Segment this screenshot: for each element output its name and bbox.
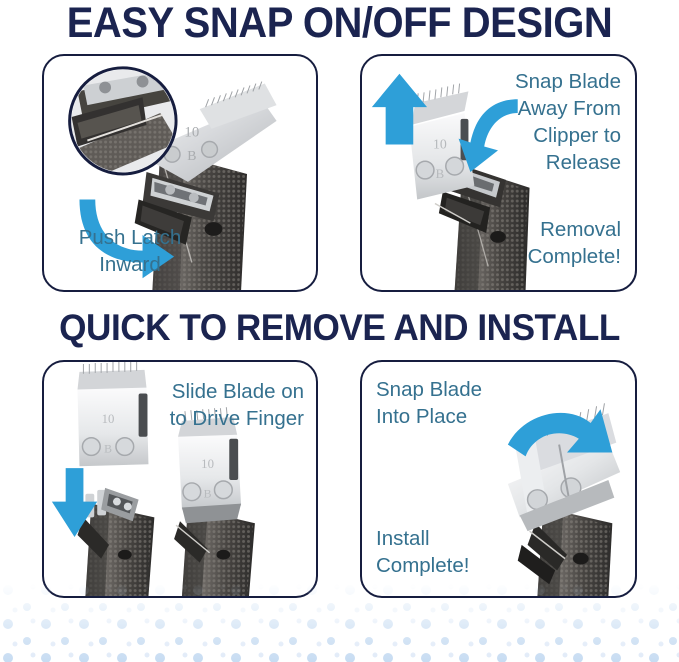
page-title-secondary: QUICK TO REMOVE AND INSTALL [17,309,662,346]
svg-text:10: 10 [184,125,199,141]
page-title-primary: EASY SNAP ON/OFF DESIGN [24,2,655,45]
panel-push-latch: 10 B [42,54,318,292]
svg-text:B: B [104,441,112,455]
svg-text:B: B [187,148,196,163]
panel-snap-away: 10 B Snap Blade Away From Clipper to Rel… [360,54,637,292]
svg-text:B: B [436,167,445,181]
panel-slide-blade: 10 B [42,360,318,598]
clipper-photo-snap-away: 10 B [362,56,635,290]
blade-mounting-right: 10 B [178,407,241,523]
svg-text:B: B [204,487,212,501]
infographic-stage: EASY SNAP ON/OFF DESIGN [0,0,679,662]
svg-text:10: 10 [102,412,115,426]
clipper-photo-slide-blade: 10 B [44,362,316,596]
svg-text:10: 10 [433,136,447,151]
svg-text:10: 10 [201,457,214,471]
clipper-photo-push-latch: 10 B [44,56,316,290]
clipper-photo-snap-into [362,362,635,596]
panel-snap-into: Snap Blade Into Place Install Complete! [360,360,637,598]
detached-blade-left: 10 B [78,362,149,466]
